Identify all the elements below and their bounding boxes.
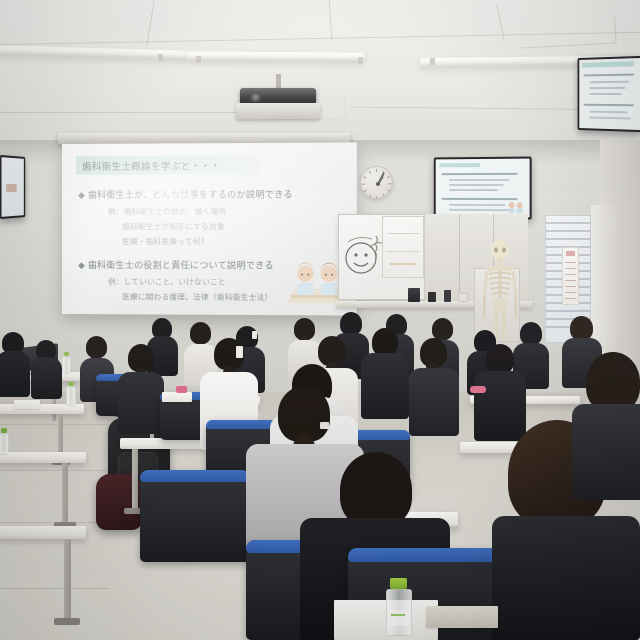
- classroom-photo: 歯科衛生士概論を学ぶと・・・ 歯科衛生士が、どんな仕事をするのか説明できる 例：…: [0, 0, 640, 640]
- water-bottle-left-1: [62, 352, 71, 374]
- shelf-item-small-box: [428, 292, 436, 302]
- monitor-center-wall: [434, 157, 532, 220]
- slide-bullet-2-example-1: 例：していいこと、いけないこと: [108, 276, 226, 287]
- whiteboard-paper-panel: [382, 216, 424, 278]
- shelf-item-device: [408, 288, 420, 302]
- slide-bullet-1-example-1: 例：歯科衛生士の歴史、働く場所: [108, 206, 226, 217]
- slide-bullet-1-example-3: 医療・歯科医療って何？: [122, 236, 208, 247]
- wall-calendar: [562, 247, 579, 305]
- water-bottle-left-2: [66, 382, 76, 406]
- pink-item-on-desk: [176, 386, 187, 393]
- monitor-illustration-icon: [506, 200, 526, 214]
- monitor-left-wall: [0, 155, 25, 219]
- ceiling-light-center: [186, 51, 364, 61]
- monitor-slide-title-band: [582, 61, 634, 67]
- wall-pillar: [591, 205, 615, 355]
- chair-front-left: [140, 470, 250, 562]
- slide-bullet-1-example-2: 歯科衛生士が相手にする対象: [122, 221, 225, 232]
- hair-clip: [236, 346, 243, 358]
- slide-bullet-2-heading: 歯科衛生士の役割と責任について説明できる: [78, 258, 274, 272]
- wall-clock: [360, 166, 393, 199]
- desk-left-front: [0, 452, 86, 463]
- slide-bullet-1-heading: 歯科衛生士が、どんな仕事をするのか説明できる: [78, 187, 293, 201]
- paper-on-desk-mid: [162, 392, 192, 402]
- shelf-item-white-box: [458, 293, 468, 302]
- slide-bullet-2-example-2: 医療に関わる倫理、法律（歯科衛生士法）: [122, 291, 272, 303]
- pink-case-right: [470, 386, 486, 393]
- slide-title: 歯科衛生士概論を学ぶと・・・: [76, 155, 260, 175]
- ceiling: [0, 0, 640, 150]
- desk-left-nearest: [0, 526, 86, 539]
- stacked-papers-front: [426, 606, 498, 628]
- shelf-item-remote: [444, 290, 451, 302]
- projector-lens-icon: [250, 92, 261, 102]
- projector-mount-plate: [236, 103, 320, 119]
- projection-screen: 歯科衛生士概論を学ぶと・・・ 歯科衛生士が、どんな仕事をするのか説明できる 例：…: [62, 142, 357, 315]
- water-bottle-front: [386, 578, 412, 636]
- paper-on-desk-left-row: [14, 400, 40, 409]
- water-bottle-left-3: [0, 428, 9, 455]
- monitor-upper-right: [578, 56, 640, 132]
